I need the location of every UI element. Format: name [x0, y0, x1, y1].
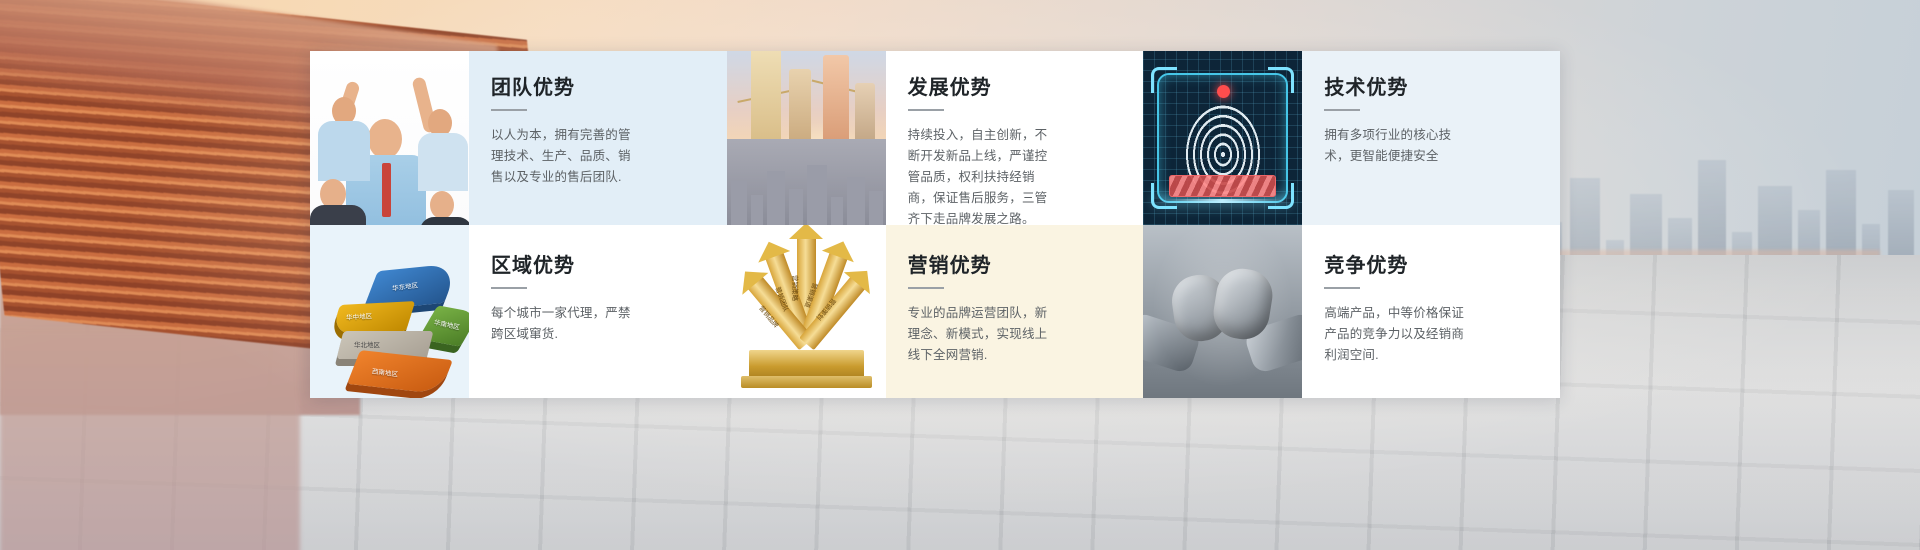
card-team-title: 团队优势 [491, 77, 707, 97]
card-team[interactable]: 团队优势 以人为本，拥有完善的管理技术、生产、品质、销售以及专业的售后团队. [310, 51, 727, 225]
card-team-desc: 以人为本，拥有完善的管理技术、生产、品质、销售以及专业的售后团队. [491, 125, 641, 188]
arrow-label-0: 营销策略 [791, 275, 801, 301]
fingerprint-scanner-photo [1143, 51, 1302, 225]
title-rule [1324, 287, 1360, 289]
card-technology-title: 技术优势 [1324, 77, 1540, 97]
card-development-text: 发展优势 持续投入，自主创新，不断开发新品上线，严谨控管品质，权利扶持经销商，保… [886, 51, 1144, 225]
pie-label-2: 华中地区 [346, 310, 373, 322]
card-technology-text: 技术优势 拥有多项行业的核心技术，更智能便捷安全 [1302, 51, 1560, 225]
card-competition[interactable]: 竞争优势 高端产品，中等价格保证产品的竞争力以及经销商利润空间. [1143, 225, 1560, 399]
card-region-title: 区域优势 [491, 255, 707, 275]
title-rule [491, 287, 527, 289]
card-region[interactable]: 华东地区 华南地区 华中地区 华北地区 西南地区 区域优势 每个城市一家代理，严… [310, 225, 727, 399]
card-development-desc: 持续投入，自主创新，不断开发新品上线，严谨控管品质，权利扶持经销商，保证售后服务… [908, 125, 1058, 225]
card-development-title: 发展优势 [908, 77, 1124, 97]
title-rule [908, 109, 944, 111]
card-technology[interactable]: 技术优势 拥有多项行业的核心技术，更智能便捷安全 [1143, 51, 1560, 225]
advantages-grid: 团队优势 以人为本，拥有完善的管理技术、生产、品质、销售以及专业的售后团队. [310, 51, 1560, 398]
golden-arrows-photo: 营销策略 营销团队 营销渠道 营销品牌 营销策划 [727, 225, 886, 399]
card-marketing-title: 营销优势 [908, 255, 1124, 275]
card-region-text: 区域优势 每个城市一家代理，严禁跨区域窜货. [469, 225, 727, 399]
scan-line [1153, 199, 1292, 203]
card-marketing-text: 营销优势 专业的品牌运营团队，新理念、新模式，实现线上线下全网营销. [886, 225, 1144, 399]
card-team-text: 团队优势 以人为本，拥有完善的管理技术、生产、品质、销售以及专业的售后团队. [469, 51, 727, 225]
cheering-team-photo [310, 51, 469, 225]
arm-wrestling-fists-photo [1143, 225, 1302, 399]
status-indicator-dot [1217, 85, 1230, 98]
card-technology-desc: 拥有多项行业的核心技术，更智能便捷安全 [1324, 125, 1474, 167]
card-marketing-desc: 专业的品牌运营团队，新理念、新模式，实现线上线下全网营销. [908, 303, 1058, 366]
card-competition-title: 竞争优势 [1324, 255, 1540, 275]
card-development[interactable]: 发展优势 持续投入，自主创新，不断开发新品上线，严谨控管品质，权利扶持经销商，保… [727, 51, 1144, 225]
title-rule [1324, 109, 1360, 111]
city-construction-photo [727, 51, 886, 225]
pie-chart-photo: 华东地区 华南地区 华中地区 华北地区 西南地区 [310, 225, 469, 399]
card-competition-text: 竞争优势 高端产品，中等价格保证产品的竞争力以及经销商利润空间. [1302, 225, 1560, 399]
chevron-strip-icon [1169, 175, 1276, 197]
title-rule [491, 109, 527, 111]
card-region-desc: 每个城市一家代理，严禁跨区域窜货. [491, 303, 641, 345]
card-marketing[interactable]: 营销策略 营销团队 营销渠道 营销品牌 营销策划 营销优势 专业的品牌运营团队，… [727, 225, 1144, 399]
card-competition-desc: 高端产品，中等价格保证产品的竞争力以及经销商利润空间. [1324, 303, 1474, 366]
title-rule [908, 287, 944, 289]
pie-label-3: 华北地区 [354, 339, 380, 349]
